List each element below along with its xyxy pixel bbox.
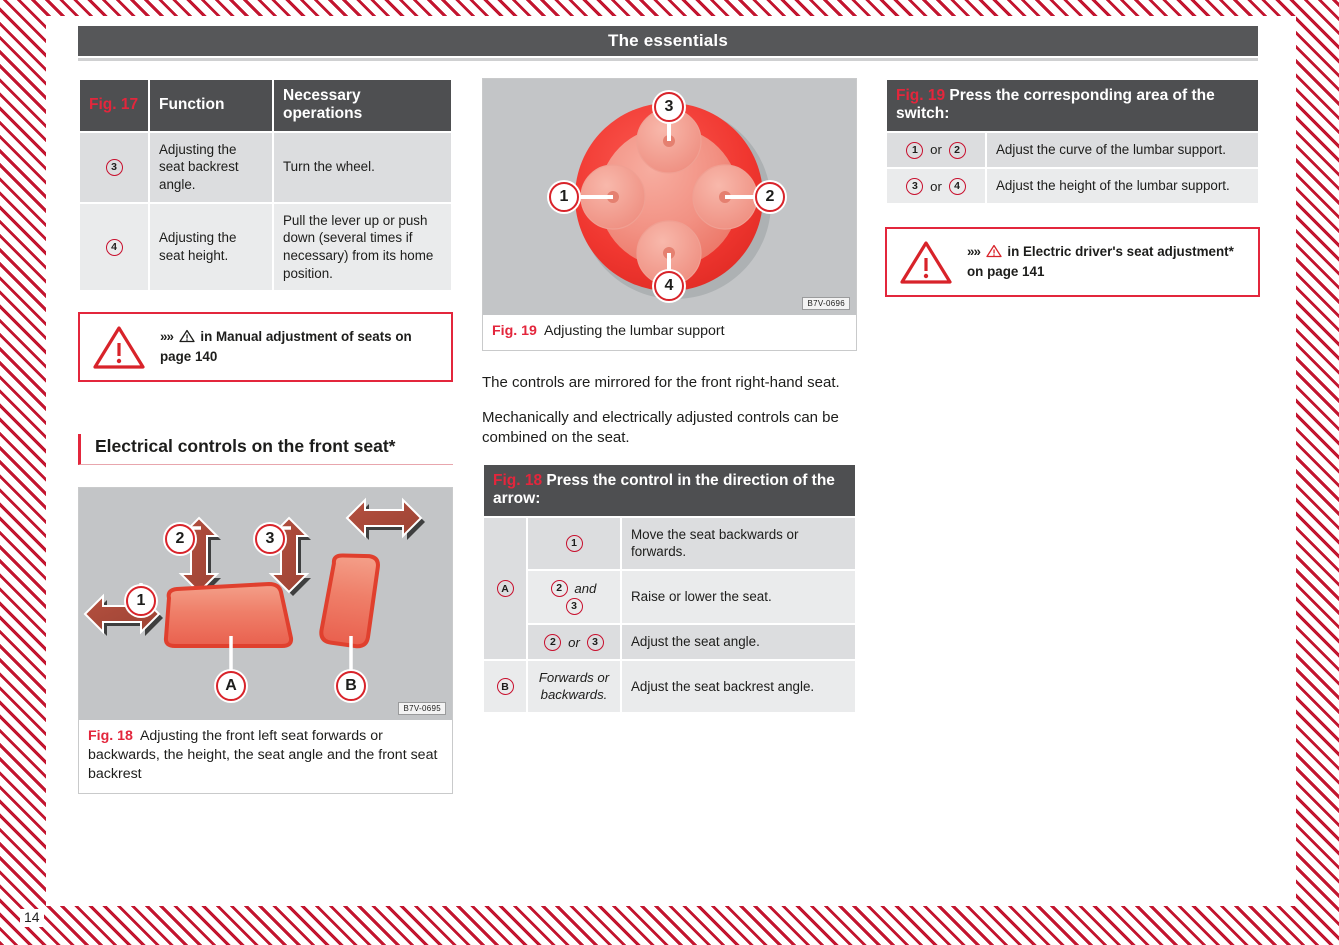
callout-badge: 1 bbox=[566, 535, 583, 552]
callout-badge: 2 bbox=[551, 580, 568, 597]
manual-page: The essentials 14 Fig. 17 Function Neces… bbox=[0, 0, 1339, 945]
callout-badge: A bbox=[497, 580, 514, 597]
table-fig18-cell-action: Adjust the seat angle. bbox=[622, 625, 855, 659]
table-fig17-cell-function: Adjusting the seat backrest angle. bbox=[150, 133, 272, 202]
section-heading-electrical-controls: Electrical controls on the front seat* bbox=[78, 434, 453, 465]
callout-badge: 3 bbox=[906, 178, 923, 195]
warning-triangle-icon bbox=[899, 239, 953, 285]
warning-triangle-inline-icon bbox=[179, 329, 195, 348]
warning-box-manual-adjustment: »» in Manual adjustment of seats on page… bbox=[78, 312, 453, 382]
conjunction-label: or bbox=[930, 179, 942, 194]
conjunction-label: or bbox=[568, 635, 580, 650]
warning-reference-text: in Electric driver's seat adjustment* on… bbox=[967, 244, 1234, 279]
table-fig18-header: Fig. 18 Press the control in the directi… bbox=[484, 465, 855, 516]
conjunction-label: or bbox=[930, 142, 942, 157]
table-fig19: Fig. 19 Press the corresponding area of … bbox=[885, 78, 1260, 205]
figure-19-caption: Fig. 19Adjusting the lumbar support bbox=[483, 315, 856, 350]
figure-18-caption: Fig. 18Adjusting the front left seat for… bbox=[79, 720, 452, 793]
callout-badge: 3 bbox=[106, 159, 123, 176]
table-fig18-header-text: Press the control in the direction of th… bbox=[493, 472, 835, 507]
table-row: 2 or 3 Adjust the seat angle. bbox=[484, 625, 855, 659]
table-fig17-cell-ref: 3 bbox=[80, 133, 148, 202]
table-fig18-cell-action: Raise or lower the seat. bbox=[622, 571, 855, 623]
table-fig19-header-fig: Fig. 19 bbox=[896, 87, 945, 104]
table-fig17-cell-ref: 4 bbox=[80, 204, 148, 291]
table-fig17-header-function: Function bbox=[150, 80, 272, 131]
chevron-right-icon: »» bbox=[160, 329, 173, 344]
callout-badge: 3 bbox=[587, 634, 604, 651]
callout-badge: B bbox=[497, 678, 514, 695]
figure-19: 3 4 1 2 B7V-0696 Fig. 19Adjusting the lu… bbox=[482, 78, 857, 351]
table-fig19-cell-controls: 1 or 2 bbox=[887, 133, 985, 167]
table-fig19-cell-controls: 3 or 4 bbox=[887, 169, 985, 203]
table-row: 3 Adjusting the seat backrest angle. Tur… bbox=[80, 133, 451, 202]
figure-19-image: 3 4 1 2 B7V-0696 bbox=[483, 79, 856, 315]
table-row: 4 Adjusting the seat height. Pull the le… bbox=[80, 204, 451, 291]
table-fig17-cell-operation: Turn the wheel. bbox=[274, 133, 451, 202]
warning-text: »» in Electric driver's seat adjustment*… bbox=[967, 243, 1246, 281]
table-row: 3 or 4 Adjust the height of the lumbar s… bbox=[887, 169, 1258, 203]
table-fig17: Fig. 17 Function Necessary operations 3 … bbox=[78, 78, 453, 292]
callout-2: 2 bbox=[755, 182, 785, 212]
page-number: 14 bbox=[20, 909, 44, 927]
table-fig18-cell-controls: Forwards or backwards. bbox=[528, 661, 620, 711]
table-fig18-cell-controls: 1 bbox=[528, 518, 620, 569]
warning-reference-text: in Manual adjustment of seats on page 14… bbox=[160, 329, 412, 364]
figure-19-image-tag: B7V-0696 bbox=[802, 297, 850, 310]
figure-18: 2 3 1 A B B7V-0695 Fig. 18Adjusting the … bbox=[78, 487, 453, 794]
table-row: B Forwards or backwards. Adjust the seat… bbox=[484, 661, 855, 711]
callout-badge: 2 bbox=[949, 142, 966, 159]
seat-backrest-button bbox=[320, 551, 379, 648]
warning-text: »» in Manual adjustment of seats on page… bbox=[160, 328, 439, 366]
table-fig17-header-operations: Necessary operations bbox=[274, 80, 451, 131]
page-header-band: The essentials bbox=[78, 26, 1258, 56]
left-column: Fig. 17 Function Necessary operations 3 … bbox=[78, 78, 453, 794]
figure-18-caption-text: Adjusting the front left seat forwards o… bbox=[88, 728, 437, 782]
callout-4: 4 bbox=[654, 271, 684, 301]
table-row: 2 and 3 Raise or lower the seat. bbox=[484, 571, 855, 623]
warning-triangle-icon bbox=[92, 324, 146, 370]
table-fig18-header-row: Fig. 18 Press the control in the directi… bbox=[484, 465, 855, 516]
middle-column: 3 4 1 2 B7V-0696 Fig. 19Adjusting the lu… bbox=[482, 78, 857, 714]
figure-18-label: Fig. 18 bbox=[88, 728, 133, 744]
warning-box-electric-seat: »» in Electric driver's seat adjustment*… bbox=[885, 227, 1260, 297]
table-fig18-group-b: B bbox=[484, 661, 526, 711]
figure-18-image-tag: B7V-0695 bbox=[398, 702, 446, 715]
table-fig17-cell-operation: Pull the lever up or push down (several … bbox=[274, 204, 451, 291]
callout-badge: 4 bbox=[949, 178, 966, 195]
header-rule bbox=[78, 58, 1258, 61]
callout-badge: 1 bbox=[906, 142, 923, 159]
table-fig17-header-fig: Fig. 17 bbox=[80, 80, 148, 131]
figure-19-label: Fig. 19 bbox=[492, 323, 537, 339]
table-row: 1 or 2 Adjust the curve of the lumbar su… bbox=[887, 133, 1258, 167]
table-fig18-cell-action: Move the seat backwards or forwards. bbox=[622, 518, 855, 569]
figure-18-image: 2 3 1 A B B7V-0695 bbox=[79, 488, 452, 720]
table-fig18-cell-action: Adjust the seat backrest angle. bbox=[622, 661, 855, 711]
callout-badge: 2 bbox=[544, 634, 561, 651]
conjunction-label: and bbox=[574, 581, 596, 596]
chevron-right-icon: »» bbox=[967, 244, 980, 259]
paragraph-mirrored-controls: The controls are mirrored for the front … bbox=[482, 373, 857, 394]
callout-3: 3 bbox=[654, 92, 684, 122]
table-fig18-cell-controls: 2 and 3 bbox=[528, 571, 620, 623]
page-header-title: The essentials bbox=[608, 31, 728, 51]
callout-1: 1 bbox=[549, 182, 579, 212]
table-fig18: Fig. 18 Press the control in the directi… bbox=[482, 463, 857, 714]
callout-badge: 4 bbox=[106, 239, 123, 256]
table-fig17-header-row: Fig. 17 Function Necessary operations bbox=[80, 80, 451, 131]
paragraph-combined-controls: Mechanically and electrically adjusted c… bbox=[482, 408, 857, 449]
table-fig18-header-fig: Fig. 18 bbox=[493, 472, 542, 489]
table-fig18-cell-controls: 2 or 3 bbox=[528, 625, 620, 659]
table-row: A 1 Move the seat backwards or forwards. bbox=[484, 518, 855, 569]
table-fig19-header-row: Fig. 19 Press the corresponding area of … bbox=[887, 80, 1258, 131]
table-fig18-group-a: A bbox=[484, 518, 526, 660]
table-fig19-header: Fig. 19 Press the corresponding area of … bbox=[887, 80, 1258, 131]
seat-cushion-button bbox=[166, 584, 291, 646]
callout-badge: 3 bbox=[566, 598, 583, 615]
table-fig17-cell-function: Adjusting the seat height. bbox=[150, 204, 272, 291]
warning-triangle-inline-icon bbox=[986, 244, 1002, 263]
figure-19-caption-text: Adjusting the lumbar support bbox=[544, 323, 725, 339]
right-column: Fig. 19 Press the corresponding area of … bbox=[885, 78, 1260, 297]
table-fig19-cell-action: Adjust the curve of the lumbar support. bbox=[987, 133, 1258, 167]
arrow-horizontal-backrest bbox=[347, 500, 425, 540]
table-fig19-cell-action: Adjust the height of the lumbar support. bbox=[987, 169, 1258, 203]
